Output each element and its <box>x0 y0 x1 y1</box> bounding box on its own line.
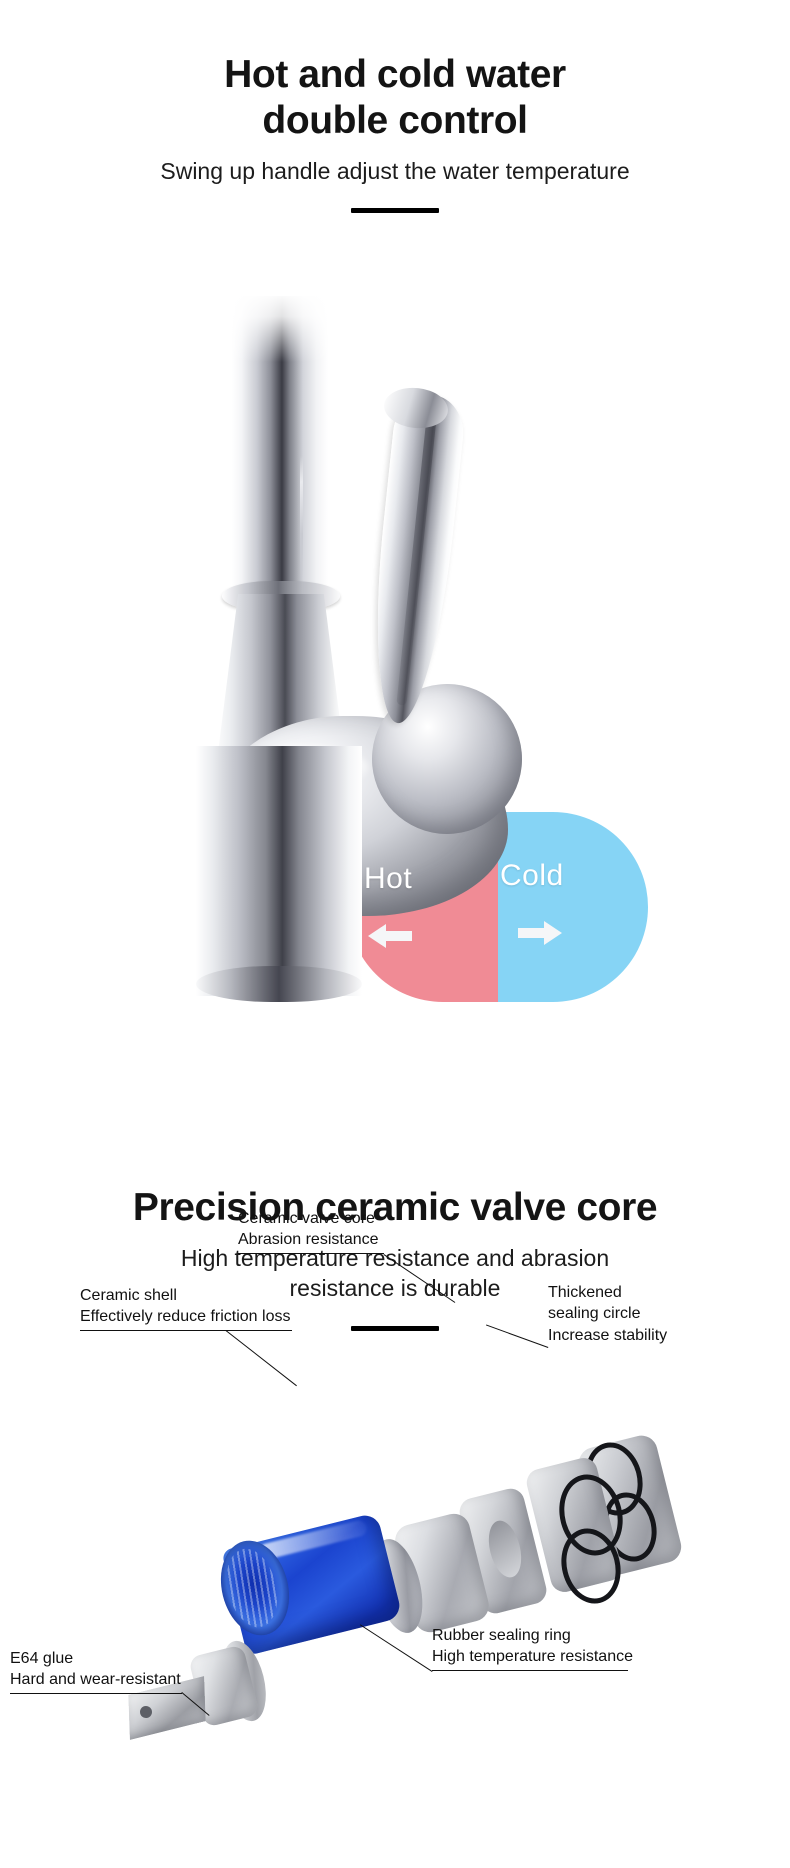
faucet-body-column <box>196 746 362 996</box>
callout-ceramic-shell-line1: Ceramic shell <box>80 1285 292 1306</box>
section-hot-cold-title-line1: Hot and cold water <box>224 53 566 96</box>
faucet-spout-seam <box>300 456 303 586</box>
callout-e64-glue: E64 glue Hard and wear-resistant <box>10 1648 182 1694</box>
product-infographic-page: Hot and cold water double control Swing … <box>0 0 790 1868</box>
leader-rubber-sealing-ring <box>360 1624 433 1672</box>
section-valve-core-divider <box>351 1326 439 1331</box>
cold-direction-arrow-icon <box>516 921 562 945</box>
callout-thickened-sealing-circle-line2: sealing circle <box>548 1303 667 1324</box>
leader-ceramic-shell <box>225 1330 297 1387</box>
section-hot-cold-divider <box>351 208 439 213</box>
callout-rubber-sealing-ring-line2: High temperature resistance <box>432 1646 633 1667</box>
callout-ceramic-valve-core-line2: Abrasion resistance <box>238 1229 384 1250</box>
callout-ceramic-shell-line2: Effectively reduce friction loss <box>80 1306 292 1327</box>
callout-e64-glue-rule <box>10 1693 182 1695</box>
callout-ceramic-shell-rule <box>80 1330 292 1332</box>
callout-thickened-sealing-circle-line1: Thickened <box>548 1282 667 1303</box>
callout-ceramic-valve-core-line1: Ceramic valve core <box>238 1208 384 1229</box>
callout-rubber-sealing-ring: Rubber sealing ring High temperature res… <box>432 1625 633 1671</box>
callout-ceramic-valve-core: Ceramic valve core Abrasion resistance <box>238 1208 384 1254</box>
faucet-body-base <box>196 966 362 1002</box>
faucet-spout-fade <box>228 292 332 362</box>
cold-label: Cold <box>500 859 564 893</box>
callout-e64-glue-line2: Hard and wear-resistant <box>10 1669 182 1690</box>
callout-thickened-sealing-circle: Thickened sealing circle Increase stabil… <box>548 1282 667 1346</box>
faucet-illustration: Hot Cold <box>0 276 790 992</box>
hot-label: Hot <box>364 862 412 896</box>
section-hot-cold-title: Hot and cold water double control <box>0 52 790 144</box>
section-hot-cold-header: Hot and cold water double control Swing … <box>0 52 790 213</box>
section-hot-cold-subtitle: Swing up handle adjust the water tempera… <box>0 144 790 186</box>
section-hot-cold-title-line2: double control <box>262 99 527 142</box>
cold-zone-sector <box>498 812 648 1002</box>
hot-direction-arrow-icon <box>368 924 414 948</box>
callout-rubber-sealing-ring-line1: Rubber sealing ring <box>432 1625 633 1646</box>
callout-e64-glue-line1: E64 glue <box>10 1648 182 1669</box>
callout-thickened-sealing-circle-line3: Increase stability <box>548 1325 667 1346</box>
callout-ceramic-shell: Ceramic shell Effectively reduce frictio… <box>80 1285 292 1331</box>
callout-ceramic-valve-core-rule <box>238 1253 384 1255</box>
callout-rubber-sealing-ring-rule <box>432 1670 628 1672</box>
section-valve-core-subtitle-line2: resistance is durable <box>290 1275 501 1301</box>
section-valve-core-title: Precision ceramic valve core <box>0 1185 790 1231</box>
